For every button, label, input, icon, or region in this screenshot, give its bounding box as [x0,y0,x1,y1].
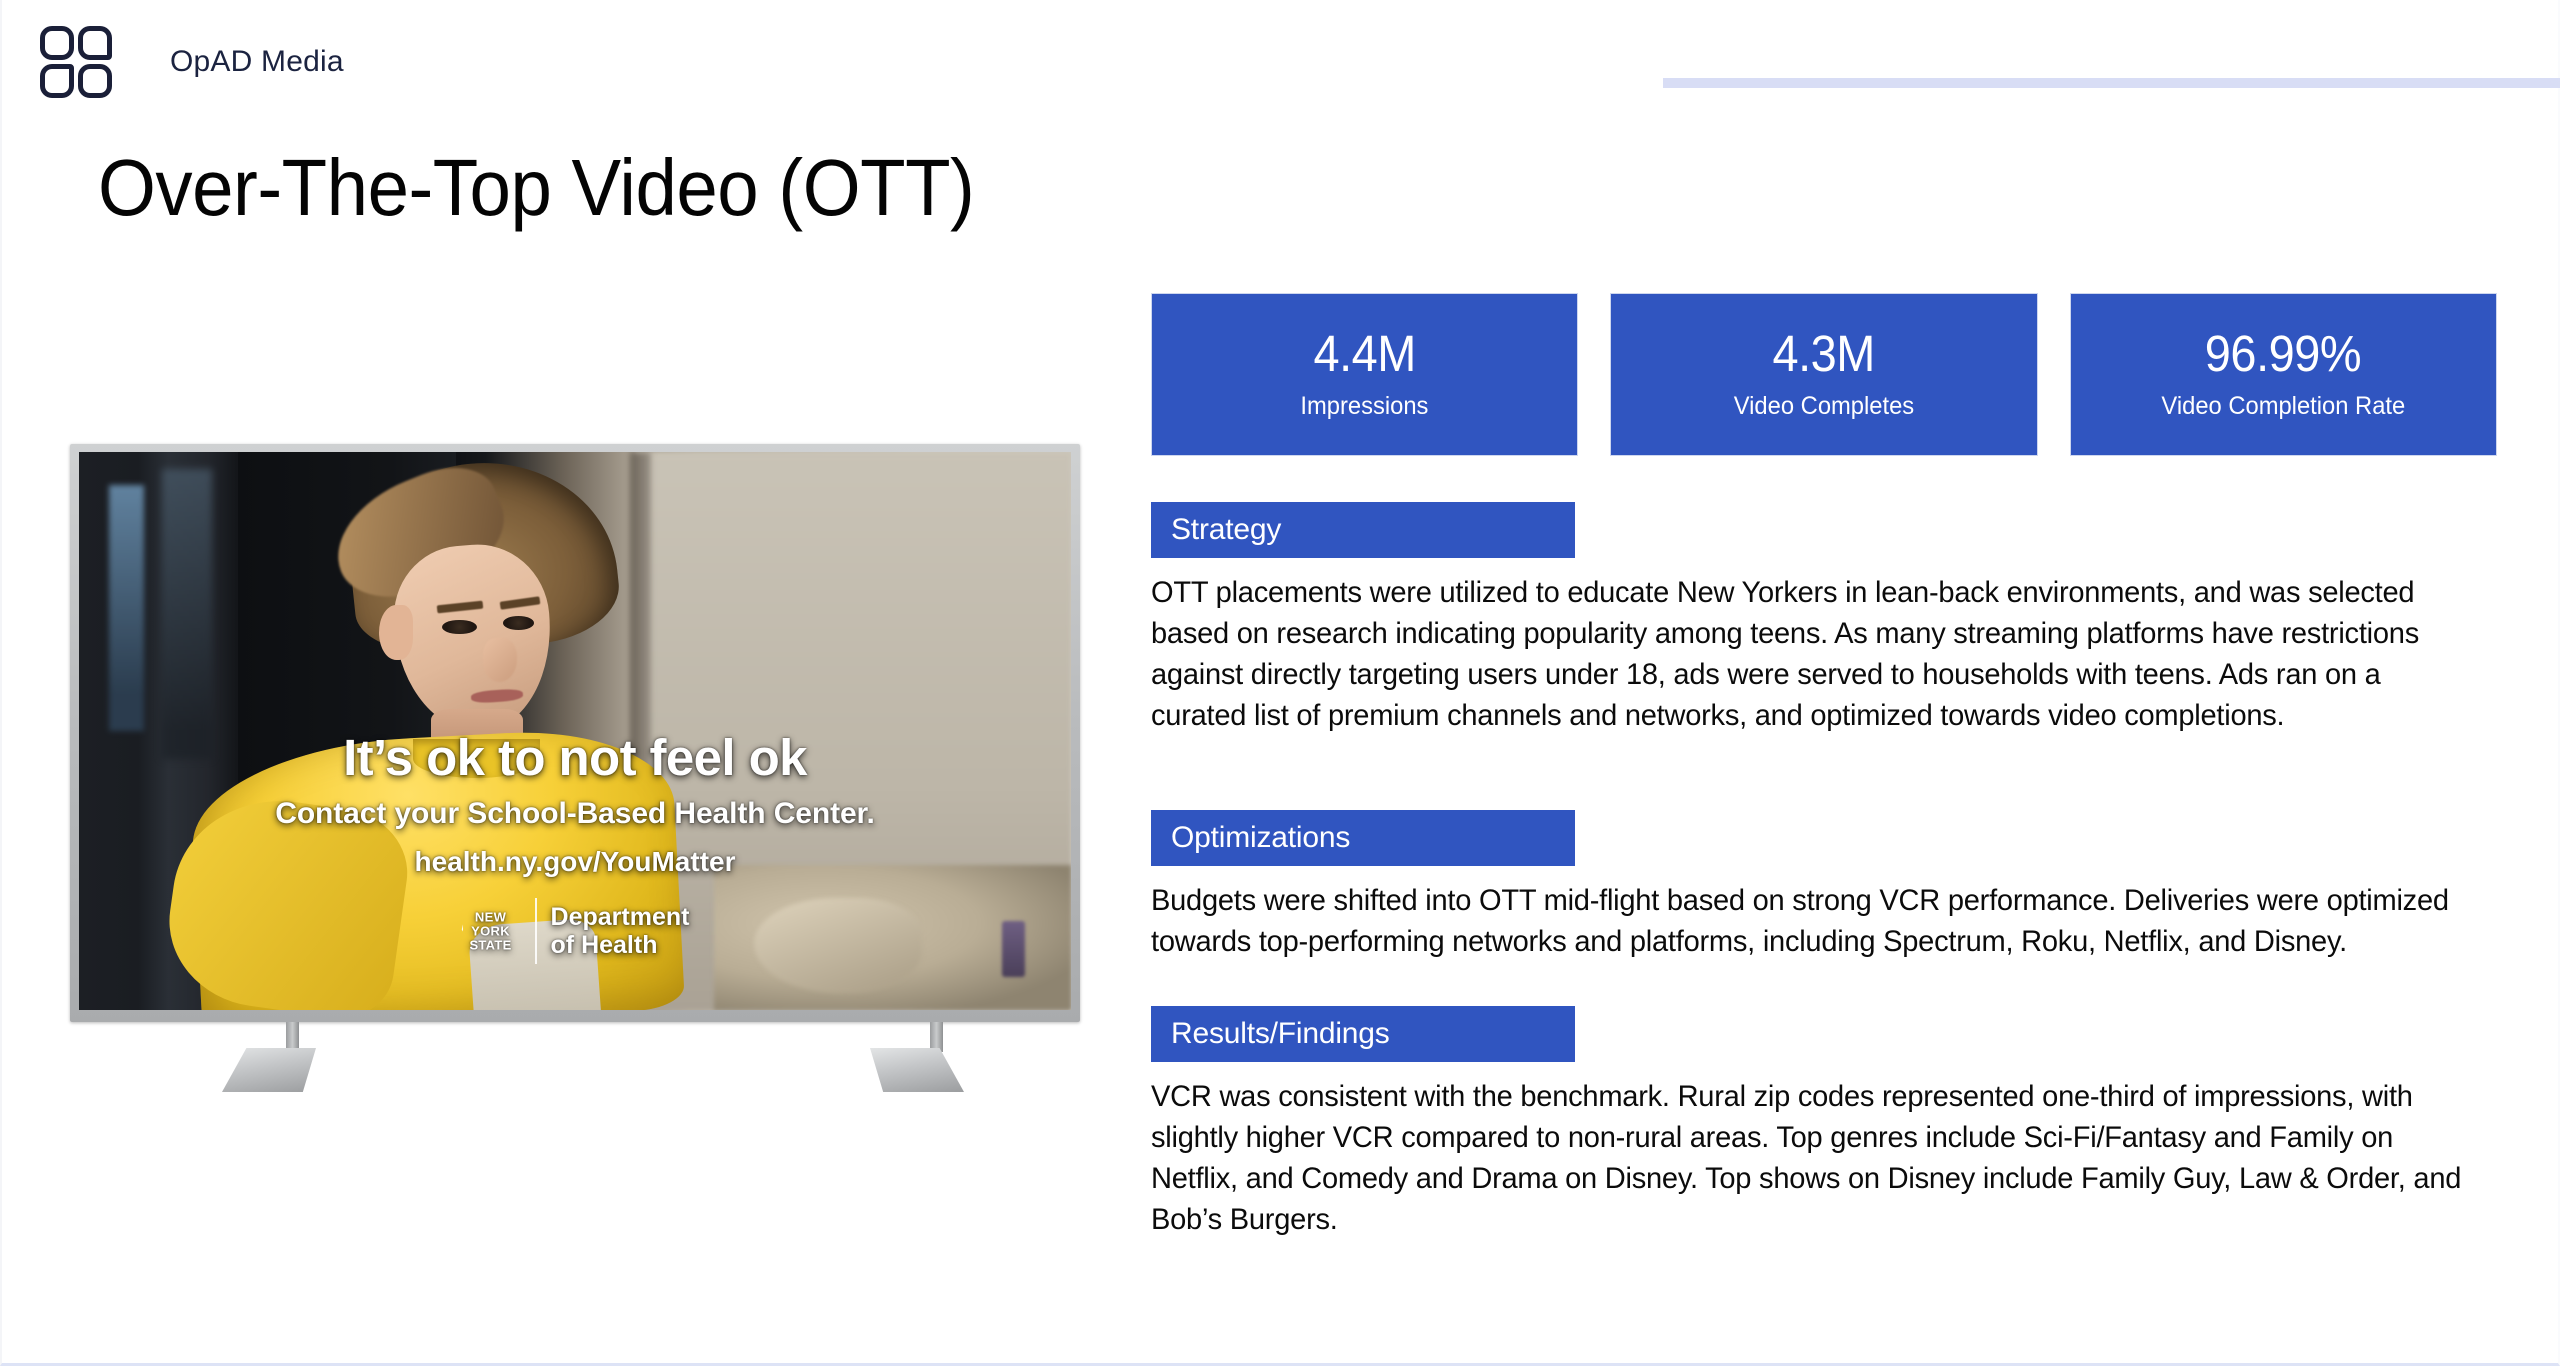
slide-root: OpAD Media Over-The-Top Video (OTT) [0,0,2560,1366]
tv-leg-neck-right [930,1022,943,1052]
content-column: 4.4M Impressions 4.3M Video Completes 96… [1151,293,2497,1240]
section-strategy: Strategy OTT placements were utilized to… [1151,502,2497,736]
logo-divider [535,898,537,964]
state-logo-text: NEW YORK STATE [469,910,511,951]
section-heading-strategy: Strategy [1151,502,1575,558]
tv-foot-right [870,1048,964,1092]
logo-cell-bottom-left [40,64,74,98]
section-heading-results-findings: Results/Findings [1151,1006,1575,1062]
creative-url: health.ny.gov/YouMatter [79,846,1071,878]
scene-window-light [109,485,145,731]
section-results-findings: Results/Findings VCR was consistent with… [1151,1006,2497,1240]
header-accent-bar [1663,78,2560,88]
department-line1: Department [551,903,690,931]
section-body-results-findings: VCR was consistent with the benchmark. R… [1151,1076,2477,1240]
tv-illustration: It’s ok to not feel ok Contact your Scho… [70,444,1080,1022]
logo-cell-top-right [78,26,112,60]
creative-subline: Contact your School-Based Health Center. [79,797,1071,831]
logo-cell-top-left [40,26,74,60]
kpi-label: Video Completes [1734,392,1914,421]
page-title: Over-The-Top Video (OTT) [98,142,974,234]
brand-row: OpAD Media [40,26,344,98]
tv-screen: It’s ok to not feel ok Contact your Scho… [79,452,1071,1010]
kpi-label: Video Completion Rate [2161,392,2405,421]
state-logo-line1: NEW [475,909,506,924]
section-body-optimizations: Budgets were shifted into OTT mid-flight… [1151,880,2477,962]
kpi-card-video-completes: 4.3M Video Completes [1610,293,2037,456]
tv-frame: It’s ok to not feel ok Contact your Scho… [70,444,1080,1022]
new-york-state-outline-icon: NEW YORK STATE [461,894,521,968]
logo-cell-bottom-right [78,64,112,98]
section-body-strategy: OTT placements were utilized to educate … [1151,572,2477,736]
creative-scene: It’s ok to not feel ok Contact your Scho… [79,452,1071,1010]
kpi-value: 4.4M [1313,328,1415,379]
kpi-value: 96.99% [2205,328,2361,379]
subject-eye-left [442,620,477,634]
nys-doh-logo: NEW YORK STATE Department of Health [79,894,1071,968]
creative-headline: It’s ok to not feel ok [79,731,1071,784]
tv-leg-neck-left [286,1022,299,1052]
kpi-card-video-completion-rate: 96.99% Video Completion Rate [2070,293,2497,456]
kpi-card-impressions: 4.4M Impressions [1151,293,1578,456]
section-heading-optimizations: Optimizations [1151,810,1575,866]
department-label: Department of Health [551,903,690,959]
tv-foot-left [222,1048,316,1092]
state-logo-line3: STATE [469,937,511,952]
department-line2: of Health [551,931,658,959]
kpi-value: 4.3M [1773,328,1875,379]
subject-eye-right [503,616,534,630]
brand-name: OpAD Media [170,45,344,79]
kpi-label: Impressions [1301,392,1429,421]
opad-quad-logo-icon [40,26,112,98]
creative-copy-overlay: It’s ok to not feel ok Contact your Scho… [79,731,1071,968]
kpi-row: 4.4M Impressions 4.3M Video Completes 96… [1151,293,2497,456]
section-optimizations: Optimizations Budgets were shifted into … [1151,810,2497,962]
subject-ear [379,605,414,660]
state-logo-line2: YORK [471,923,510,938]
scene-window-light-secondary [162,469,212,759]
